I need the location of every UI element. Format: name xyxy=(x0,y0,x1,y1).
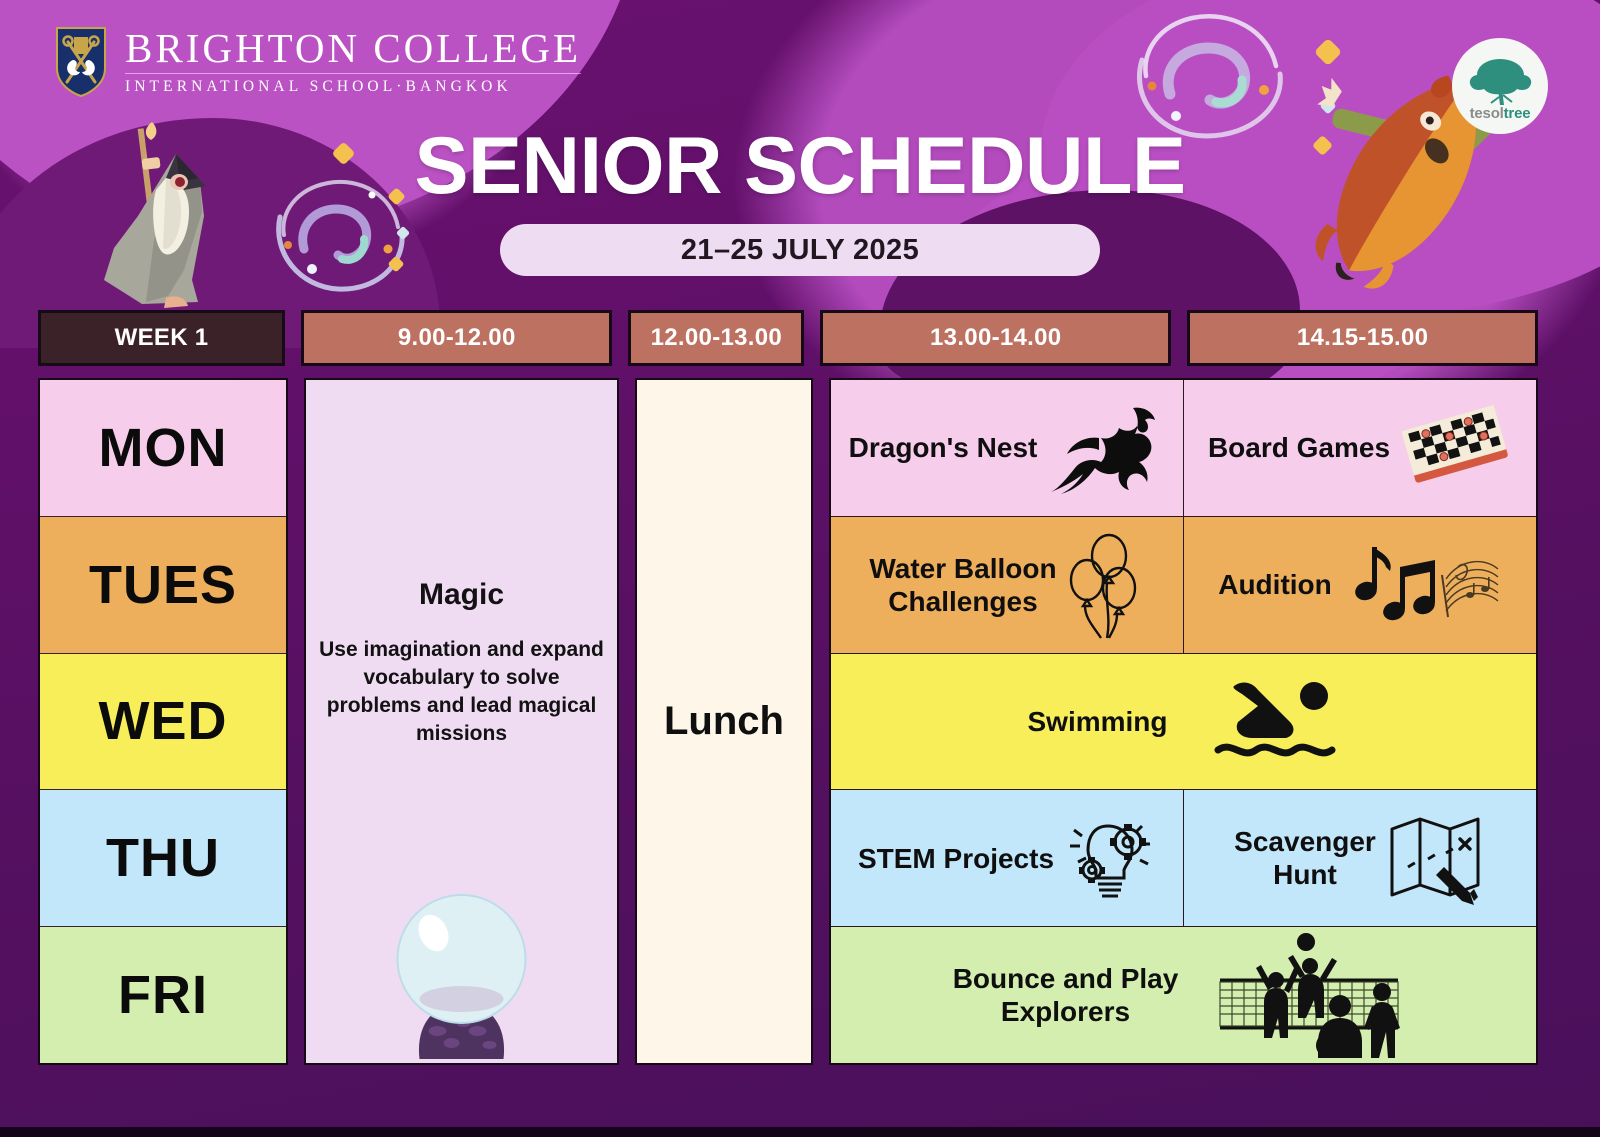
activity-cell-thu-1415: Scavenger Hunt xyxy=(1184,790,1536,926)
music-notes-icon xyxy=(1342,539,1502,631)
page-title: SENIOR SCHEDULE xyxy=(0,126,1600,207)
schedule-body-row: MON TUES WED THU FRI Magic Use imaginati… xyxy=(38,378,1538,1065)
day-cell-wed: WED xyxy=(40,654,286,791)
morning-session-cell: Magic Use imagination and expand vocabul… xyxy=(304,378,619,1065)
header-time-1200: 12.00-13.00 xyxy=(628,310,804,366)
swimmer-icon xyxy=(1212,676,1340,766)
page-title-block: SENIOR SCHEDULE 21–25 JULY 2025 xyxy=(0,126,1600,276)
activity-label: Audition xyxy=(1218,568,1332,601)
tesoltree-name-part1: tesol xyxy=(1470,105,1504,122)
header-time-1300: 13.00-14.00 xyxy=(820,310,1171,366)
days-column: MON TUES WED THU FRI xyxy=(38,378,288,1065)
brighton-college-logo: BRIGHTON COLLEGE INTERNATIONAL SCHOOL·BA… xyxy=(55,26,581,98)
balloons-icon xyxy=(1067,530,1145,640)
activity-row-mon: Dragon's Nest Board Games xyxy=(831,380,1536,517)
activity-label: Water Balloon Challenges xyxy=(869,552,1056,618)
day-cell-thu: THU xyxy=(40,790,286,927)
poster-bottom-edge xyxy=(0,1127,1600,1137)
logo-title: BRIGHTON COLLEGE xyxy=(125,28,581,70)
tesoltree-logo: tesoltree xyxy=(1452,38,1548,134)
header-week: WEEK 1 xyxy=(38,310,285,366)
logo-subtitle: INTERNATIONAL SCHOOL·BANGKOK xyxy=(125,78,581,96)
lunch-cell: Lunch xyxy=(635,378,813,1065)
activity-label: Board Games xyxy=(1208,431,1390,464)
activity-label: Bounce and Play Explorers xyxy=(953,962,1179,1028)
board-game-icon xyxy=(1400,405,1512,491)
activity-row-thu: STEM Projects xyxy=(831,790,1536,927)
activity-cell-tues-1300: Water Balloon Challenges xyxy=(831,517,1184,653)
activity-cell-thu-1300: STEM Projects xyxy=(831,790,1184,926)
activity-row-wed: Swimming xyxy=(831,654,1536,791)
schedule-table: WEEK 1 9.00-12.00 12.00-13.00 13.00-14.0… xyxy=(38,310,1538,1065)
activity-cell-mon-1415: Board Games xyxy=(1184,380,1536,516)
map-icon xyxy=(1386,811,1486,905)
activity-label: STEM Projects xyxy=(858,842,1054,875)
volleyball-players-icon xyxy=(1214,932,1414,1058)
activity-label: Swimming xyxy=(1027,705,1167,738)
activities-block: Dragon's Nest Board Games xyxy=(829,378,1538,1065)
activity-cell-wed-merged: Swimming xyxy=(831,654,1536,790)
day-cell-mon: MON xyxy=(40,380,286,517)
activity-row-fri: Bounce and Play Explorers xyxy=(831,927,1536,1063)
schedule-poster: BRIGHTON COLLEGE INTERNATIONAL SCHOOL·BA… xyxy=(0,0,1600,1137)
activity-label: Dragon's Nest xyxy=(849,431,1038,464)
activity-cell-tues-1415: Audition xyxy=(1184,517,1536,653)
day-cell-fri: FRI xyxy=(40,927,286,1063)
morning-session-title: Magic xyxy=(419,578,504,612)
activity-cell-mon-1300: Dragon's Nest xyxy=(831,380,1184,516)
date-range-label: 21–25 JULY 2025 xyxy=(681,234,919,267)
activity-cell-fri-merged: Bounce and Play Explorers xyxy=(831,927,1536,1063)
lunch-label: Lunch xyxy=(664,699,784,744)
brighton-crest-icon xyxy=(55,26,107,98)
morning-session-description: Use imagination and expand vocabulary to… xyxy=(317,636,607,748)
tree-icon xyxy=(1463,55,1537,107)
date-range-badge: 21–25 JULY 2025 xyxy=(500,224,1100,276)
schedule-header-row: WEEK 1 9.00-12.00 12.00-13.00 13.00-14.0… xyxy=(38,310,1538,366)
tesoltree-name-part2: tree xyxy=(1504,105,1531,122)
activity-label: Scavenger Hunt xyxy=(1234,825,1376,891)
gear-bulb-icon xyxy=(1064,812,1156,904)
header-time-1415: 14.15-15.00 xyxy=(1187,310,1538,366)
crystal-ball-icon xyxy=(359,879,564,1059)
dragon-icon xyxy=(1047,402,1165,494)
day-cell-tues: TUES xyxy=(40,517,286,654)
logo-divider xyxy=(125,73,581,74)
header-time-0900: 9.00-12.00 xyxy=(301,310,612,366)
activity-row-tues: Water Balloon Challenges xyxy=(831,517,1536,654)
